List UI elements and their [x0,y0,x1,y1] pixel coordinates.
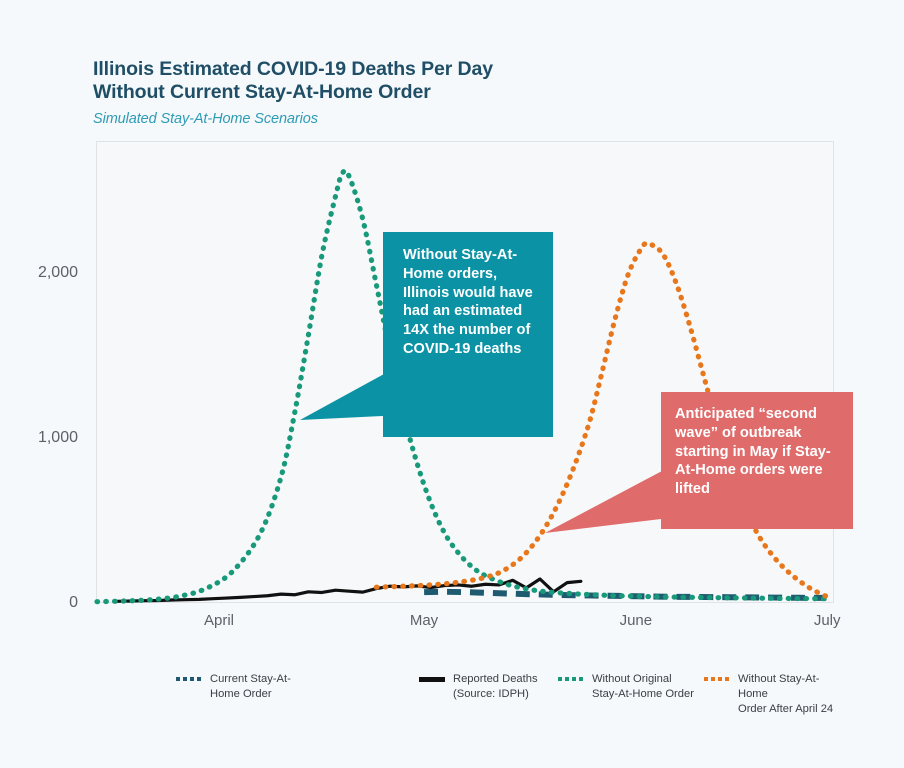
legend-item[interactable]: Current Stay-At- Home Order [176,672,291,702]
page-title: Illinois Estimated COVID-19 Deaths Per D… [93,58,733,104]
y-axis-tick-label: 1,000 [38,429,78,447]
x-axis-tick-label: May [410,612,438,629]
callout-without-orders: Without Stay-At-Home orders, Illinois wo… [383,232,553,437]
chart-root: Illinois Estimated COVID-19 Deaths Per D… [0,0,904,768]
callout-second-wave: Anticipated “second wave” of outbreak st… [661,392,853,529]
x-axis-tick-label: July [814,612,841,629]
legend-item[interactable]: Without Stay-At-Home Order After April 2… [704,672,836,716]
x-axis-tick-label: April [204,612,234,629]
callout-without-orders-text: Without Stay-At-Home orders, Illinois wo… [403,246,541,359]
y-axis-tick-label: 2,000 [38,264,78,282]
x-axis: AprilMayJuneJuly [96,612,834,642]
callout-second-wave-text: Anticipated “second wave” of outbreak st… [675,405,843,499]
legend-swatch-icon [558,677,584,681]
legend-item[interactable]: Without Original Stay-At-Home Order [558,672,694,702]
legend-swatch-icon [419,677,445,682]
legend-swatch-icon [176,677,202,681]
legend-label: Without Stay-At-Home Order After April 2… [738,672,836,716]
x-axis-tick-label: June [620,612,653,629]
legend-label: Current Stay-At- Home Order [210,672,291,702]
legend-item[interactable]: Reported Deaths (Source: IDPH) [419,672,538,702]
title-block: Illinois Estimated COVID-19 Deaths Per D… [93,58,733,127]
series-line [424,592,826,598]
legend-swatch-icon [704,677,730,681]
y-axis-tick-label: 0 [69,594,78,612]
chart-subtitle: Simulated Stay-At-Home Scenarios [93,111,733,127]
legend-label: Reported Deaths (Source: IDPH) [453,672,538,702]
legend-label: Without Original Stay-At-Home Order [592,672,694,702]
chart-legend: Current Stay-At- Home OrderReported Deat… [96,672,836,712]
series-line [117,579,580,601]
y-axis: 01,0002,000 [0,141,88,603]
